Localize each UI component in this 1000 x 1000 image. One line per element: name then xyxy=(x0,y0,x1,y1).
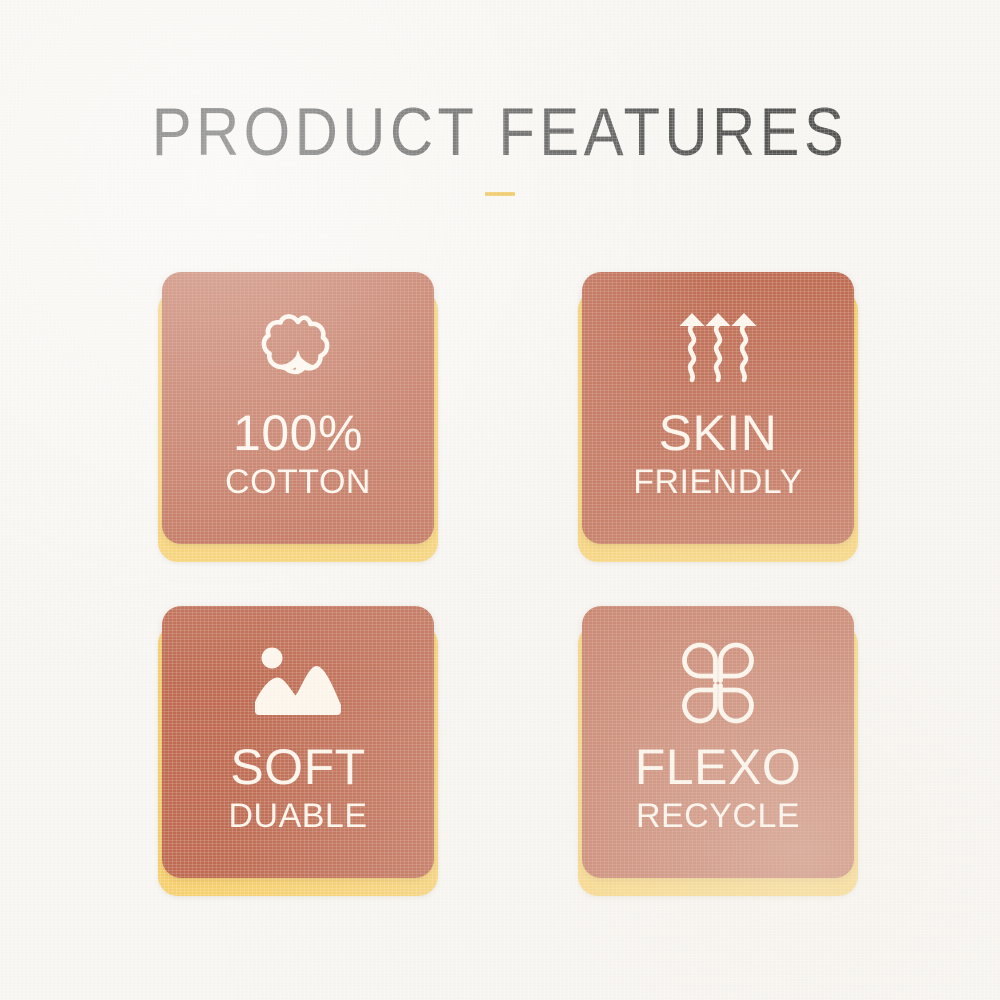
card-title-main: SOFT xyxy=(162,740,434,794)
card-title-main: 100% xyxy=(162,406,434,460)
feature-card-flexo-recycle[interactable]: FLEXO RECYCLE xyxy=(582,606,854,878)
card-title-sub: DUABLE xyxy=(162,796,434,836)
poster-canvas: PRODUCT FEATURES xyxy=(0,0,1000,1000)
card-title-sub: RECYCLE xyxy=(582,796,854,836)
card-face[interactable]: SOFT DUABLE xyxy=(162,606,434,878)
card-title-main: SKIN xyxy=(582,406,854,460)
card-text: SKIN FRIENDLY xyxy=(582,406,854,502)
page-title: PRODUCT FEATURES xyxy=(60,96,940,168)
card-title-main: FLEXO xyxy=(582,740,854,794)
card-text: FLEXO RECYCLE xyxy=(582,740,854,836)
card-face[interactable]: FLEXO RECYCLE xyxy=(582,606,854,878)
cotton-boll-icon xyxy=(255,306,341,392)
card-face[interactable]: 100% COTTON xyxy=(162,272,434,544)
feature-cards-grid: 100% COTTON xyxy=(162,272,854,878)
landscape-image-icon xyxy=(252,640,344,726)
feature-card-cotton[interactable]: 100% COTTON xyxy=(162,272,434,544)
card-title-sub: FRIENDLY xyxy=(582,462,854,502)
card-face[interactable]: SKIN FRIENDLY xyxy=(582,272,854,544)
header: PRODUCT FEATURES xyxy=(0,96,1000,196)
four-petal-clover-icon xyxy=(677,640,759,726)
breathable-waves-icon xyxy=(678,306,758,392)
feature-card-soft-duable[interactable]: SOFT DUABLE xyxy=(162,606,434,878)
title-underline-accent xyxy=(485,192,515,196)
card-text: SOFT DUABLE xyxy=(162,740,434,836)
feature-card-skin-friendly[interactable]: SKIN FRIENDLY xyxy=(582,272,854,544)
card-text: 100% COTTON xyxy=(162,406,434,502)
card-title-sub: COTTON xyxy=(162,462,434,502)
